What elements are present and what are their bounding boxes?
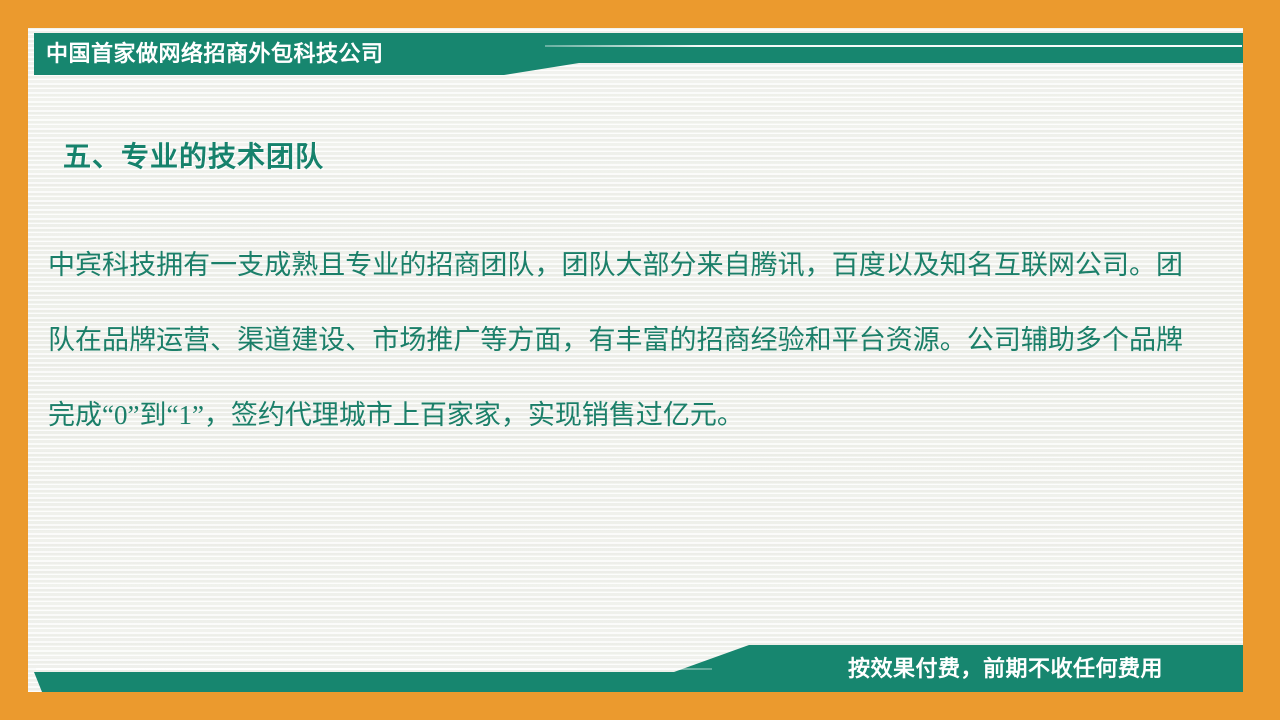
footer-divider-line [36, 668, 712, 670]
body-paragraph: 中宾科技拥有一支成熟且专业的招商团队，团队大部分来自腾讯，百度以及知名互联网公司… [48, 228, 1183, 453]
body-paragraph-container: 中宾科技拥有一支成熟且专业的招商团队，团队大部分来自腾讯，百度以及知名互联网公司… [48, 228, 1183, 453]
footer-tagline: 按效果付费，前期不收任何费用 [848, 647, 1163, 691]
section-heading: 五、专业的技术团队 [63, 135, 324, 175]
header-title: 中国首家做网络招商外包科技公司 [46, 34, 384, 74]
presentation-slide: 中国首家做网络招商外包科技公司 五、专业的技术团队 中宾科技拥有一支成熟且专业的… [0, 0, 1280, 720]
header-divider-line [545, 45, 1242, 47]
